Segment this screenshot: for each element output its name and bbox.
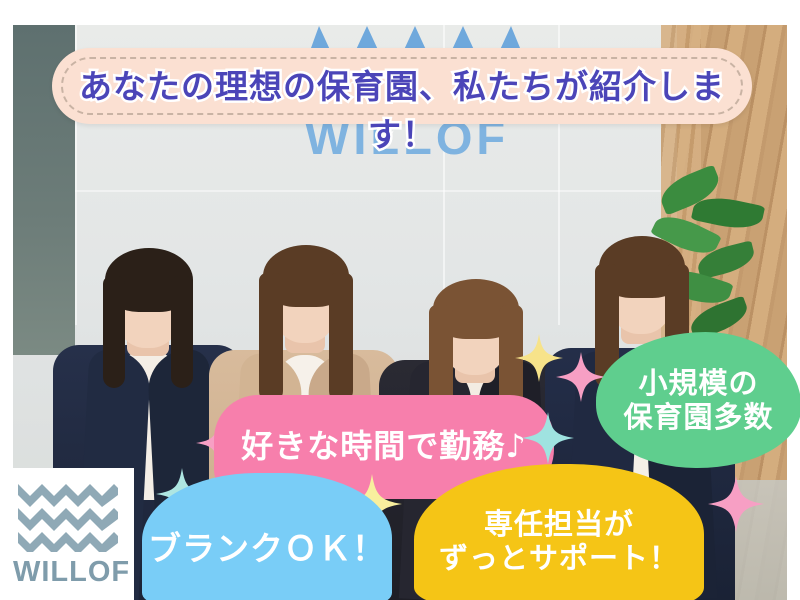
hair-side xyxy=(171,276,193,388)
sparkle-cyan-mid-icon xyxy=(522,412,574,464)
advertisement-banner: WILLOF xyxy=(0,0,800,600)
callout-blank-ok-text: ブランクＯＫ！ xyxy=(148,530,386,569)
sparkle-pink-right-icon xyxy=(708,476,764,532)
willof-zigzag-icon xyxy=(18,482,118,552)
willof-brand-text: WILLOF xyxy=(13,556,123,589)
hair-side xyxy=(259,273,283,403)
callout-flexible-hours-text: 好きな時間で勤務♪ xyxy=(241,428,526,466)
hair-side xyxy=(329,273,353,403)
callout-small-nursery-text: 小規模の 保育園多数 xyxy=(623,366,773,434)
hair-side xyxy=(103,276,125,388)
callout-blank-ok: ブランクＯＫ！ xyxy=(142,473,392,600)
callout-small-nursery: 小規模の 保育園多数 xyxy=(596,332,800,468)
callout-dedicated-support: 専任担当が ずっとサポート！ xyxy=(414,464,704,600)
headline-banner: あなたの理想の保育園、私たちが紹介します！ xyxy=(52,48,752,124)
willof-logo: WILLOF xyxy=(0,468,134,600)
headline-text: あなたの理想の保育園、私たちが紹介します！ xyxy=(52,60,752,156)
callout-dedicated-support-text: 専任担当が ずっとサポート！ xyxy=(439,507,679,575)
